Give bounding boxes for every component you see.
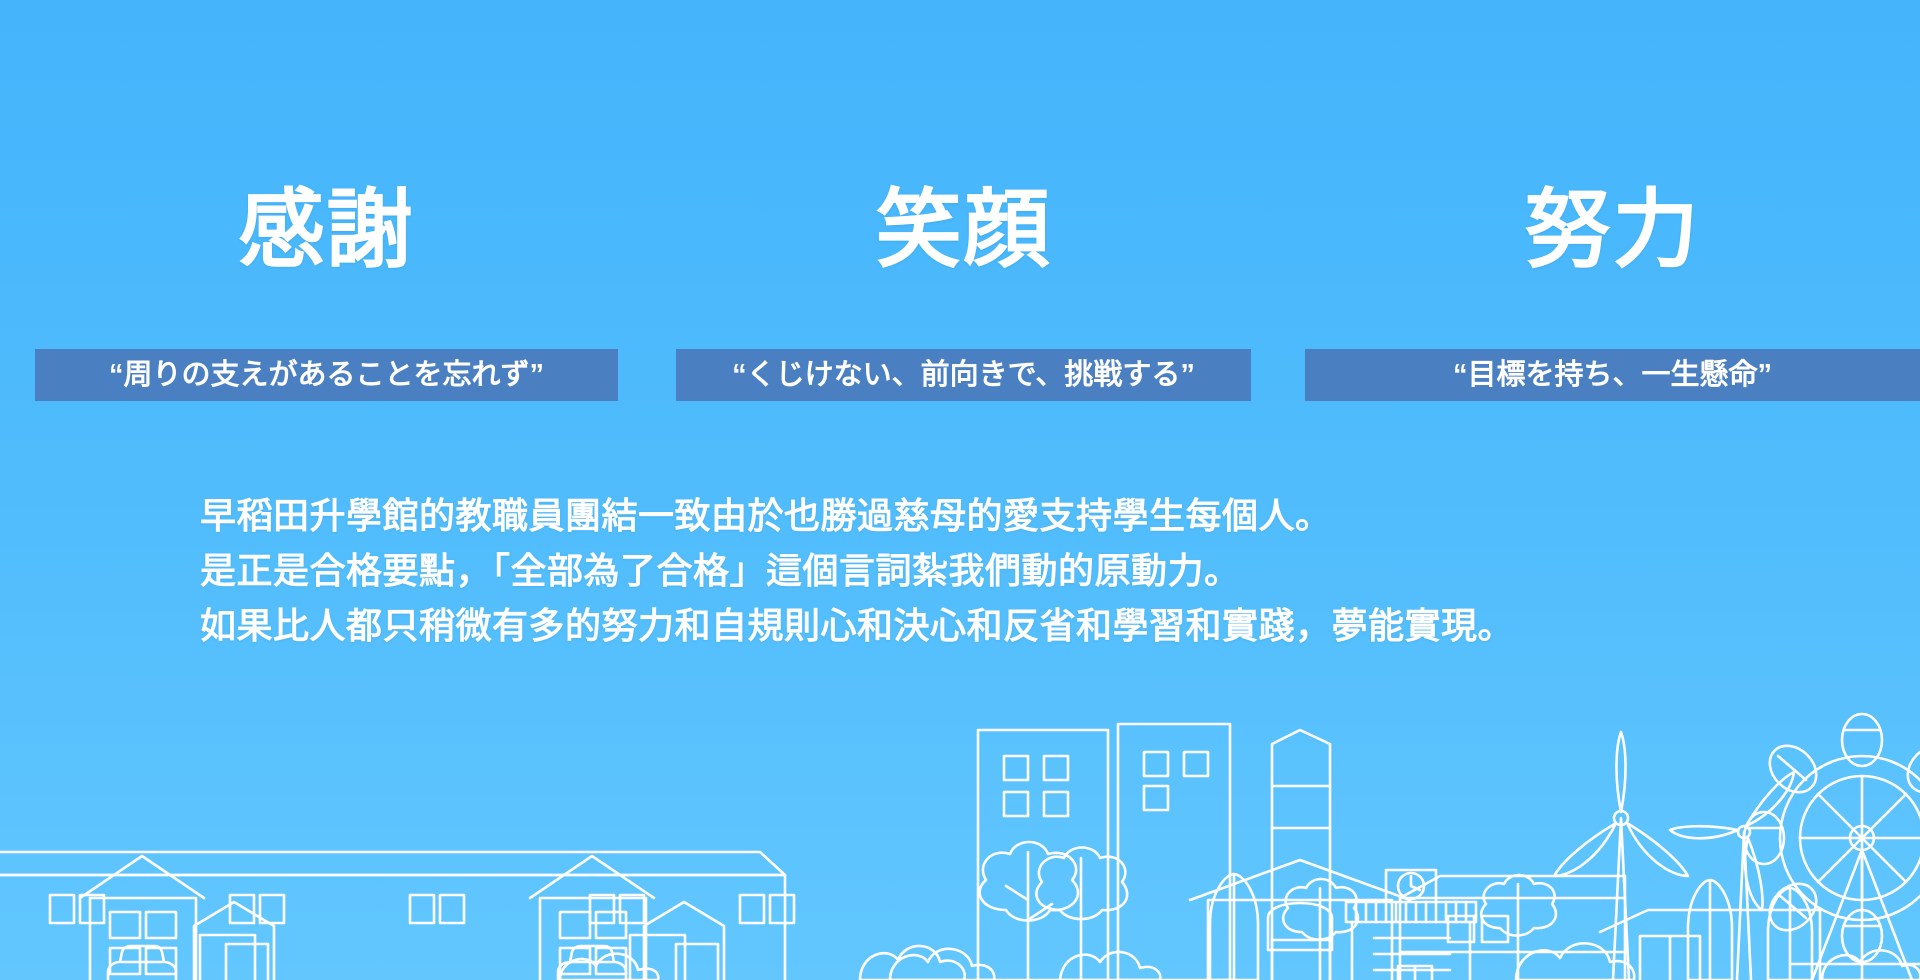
bush-shape-1 <box>860 946 1160 980</box>
pillar-headings-row: 感謝 笑顔 努力 <box>0 178 1920 288</box>
pillar-heading-effort: 努力 <box>1305 178 1920 282</box>
apartment-building-shape <box>1400 876 1625 980</box>
office-tower-shape-3 <box>1272 730 1330 980</box>
tree-shape-1 <box>980 842 1078 980</box>
pillar-motto-banner-gratitude: “周りの支えがあることを忘れず” <box>35 349 618 401</box>
pillar-motto-banner-effort: “目標を持ち、一生懸命” <box>1305 349 1920 401</box>
paragraph-line-2: 是正是合格要點，「全部為了合格」這個言詞紮我們動的原動力。 <box>200 543 1760 598</box>
office-tower-shape-1 <box>978 730 1108 980</box>
low-roof-block-shape <box>1600 910 1820 980</box>
car-shape-1 <box>108 946 176 980</box>
cypress-tree-shape-1 <box>1210 874 1258 980</box>
cypress-tree-shape-3 <box>1768 888 1812 980</box>
paragraph-line-1: 早稻田升學館的教職員團結一致由於也勝過慈母的愛支持學生每個人。 <box>200 488 1760 543</box>
cypress-tree-shape-2 <box>1688 880 1732 980</box>
tree-shape-2 <box>1036 848 1127 980</box>
tree-shape-3 <box>1283 879 1358 980</box>
bush-shape-3 <box>1516 943 1920 980</box>
pillar-heading-smile: 笑顔 <box>676 178 1251 282</box>
paragraph-line-3: 如果比人都只稍微有多的努力和自規則心和決心和反省和學習和實踐，夢能實現。 <box>200 598 1760 653</box>
house-with-car-garage-shape-2 <box>530 856 724 980</box>
pillar-heading-gratitude: 感謝 <box>35 178 618 282</box>
long-school-building-shape <box>0 852 794 980</box>
bush-shape-2 <box>560 949 994 980</box>
car-shape-2 <box>558 946 626 980</box>
description-paragraph: 早稻田升學館的教職員團結一致由於也勝過慈母的愛支持學生每個人。 是正是合格要點，… <box>200 488 1760 653</box>
house-with-gable-shape <box>1190 860 1410 980</box>
house-with-car-garage-shape-1 <box>80 856 274 980</box>
tree-shape-4 <box>1481 875 1556 980</box>
slide-canvas: 感謝 笑顔 努力 “周りの支えがあることを忘れず” “くじけない、前向きで、挑戦… <box>0 0 1920 980</box>
wind-turbine-shape-1 <box>1554 732 1688 980</box>
pillar-motto-banner-smile: “くじけない、前向きで、挑戦する” <box>676 349 1251 401</box>
clock-tower-building-shape <box>1346 870 1476 980</box>
office-tower-shape-2 <box>1118 724 1230 980</box>
ferris-wheel-shape <box>1744 714 1920 980</box>
wind-turbine-shape-2 <box>1670 772 1794 980</box>
